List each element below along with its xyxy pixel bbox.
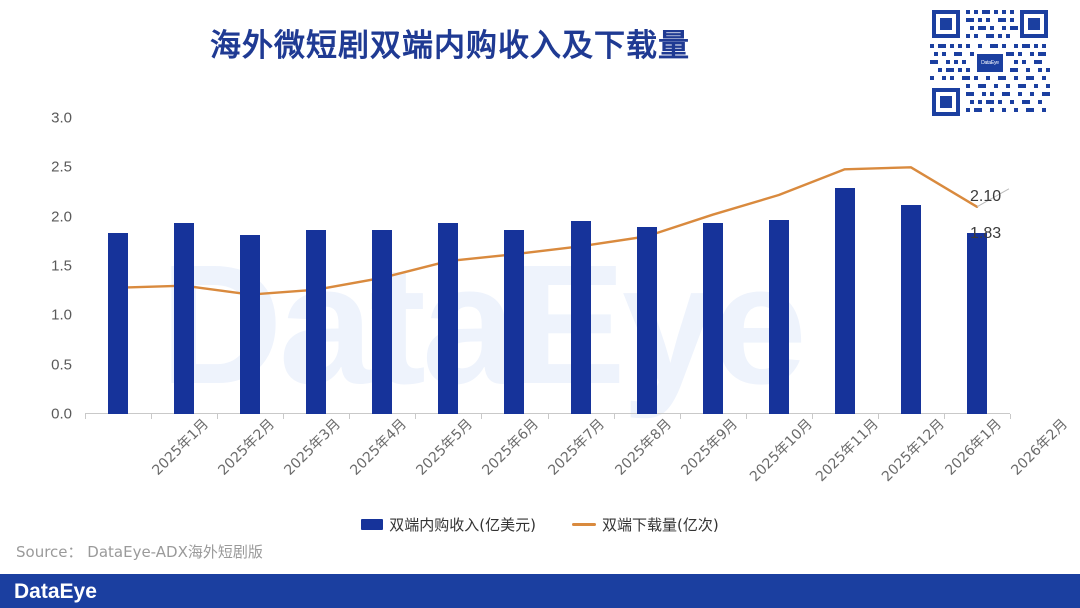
footer-bar: DataEye [0,574,1080,608]
x-axis-label-2025年1月: 2025年1月 [147,414,212,479]
bar-2025年8月[interactable] [571,221,591,414]
legend-revenue[interactable]: 双端内购收入(亿美元) [361,514,536,535]
chart-legend: 双端内购收入(亿美元)双端下载量(亿次) [0,512,1080,536]
y-axis-tick-label: 1.5 [51,258,72,275]
legend-swatch-line-icon [572,523,596,526]
x-axis-label-2025年6月: 2025年6月 [478,414,543,479]
x-axis-label-2025年4月: 2025年4月 [345,414,410,479]
x-axis-labels: 2025年1月2025年2月2025年3月2025年4月2025年5月2025年… [0,414,1080,509]
qr-code[interactable]: DataEye [928,8,1052,118]
y-axis-tick-label: 0.5 [51,356,72,373]
data-label-revenue: 1.83 [970,225,1001,243]
legend-downloads[interactable]: 双端下载量(亿次) [572,514,719,535]
y-axis-tick-label: 2.0 [51,208,72,225]
x-axis-label-2025年2月: 2025年2月 [213,414,278,479]
legend-label: 双端下载量(亿次) [602,514,719,535]
bar-2026年2月[interactable] [967,233,987,414]
x-axis-label-2025年5月: 2025年5月 [412,414,477,479]
x-axis-label-2025年9月: 2025年9月 [676,414,741,479]
y-axis-tick-label: 3.0 [51,110,72,127]
y-axis-tick-label: 2.5 [51,159,72,176]
line-series-layer [85,118,1010,414]
data-label-downloads: 2.10 [970,188,1001,206]
x-axis-label-2026年1月: 2026年1月 [940,414,1005,479]
plot-area [85,118,1010,414]
bar-2025年1月[interactable] [108,233,128,414]
bar-2025年5月[interactable] [372,230,392,415]
x-axis-label-2025年10月: 2025年10月 [745,414,817,486]
y-axis-labels: 0.00.51.01.52.02.53.0 [0,118,80,414]
bar-2025年10月[interactable] [703,223,723,414]
bar-2026年1月[interactable] [901,205,921,414]
page-title: 海外微短剧双端内购收入及下载量 [0,20,900,65]
bar-2025年4月[interactable] [306,230,326,414]
x-axis-label-2025年3月: 2025年3月 [279,414,344,479]
x-axis-label-2025年11月: 2025年11月 [811,414,883,486]
legend-label: 双端内购收入(亿美元) [389,514,536,535]
x-axis-label-2025年7月: 2025年7月 [544,414,609,479]
bar-2025年11月[interactable] [769,220,789,414]
bar-2025年3月[interactable] [240,235,260,414]
legend-swatch-bar-icon [361,519,383,530]
x-axis-label-2025年8月: 2025年8月 [610,414,675,479]
y-axis-tick-label: 1.0 [51,307,72,324]
x-axis-label-2026年2月: 2026年2月 [1006,414,1071,479]
x-axis-label-2025年12月: 2025年12月 [877,414,949,486]
bar-2025年7月[interactable] [504,230,524,415]
chart-canvas: 海外微短剧双端内购收入及下载量 [0,0,1080,608]
bar-2025年9月[interactable] [637,227,657,414]
bar-2025年12月[interactable] [835,188,855,414]
bar-2025年6月[interactable] [438,223,458,414]
qr-center-logo: DataEye [975,52,1005,74]
source-note: Source： DataEye-ADX海外短剧版 [16,541,263,562]
dataeye-logo: DataEye [14,580,97,604]
bar-2025年2月[interactable] [174,223,194,414]
